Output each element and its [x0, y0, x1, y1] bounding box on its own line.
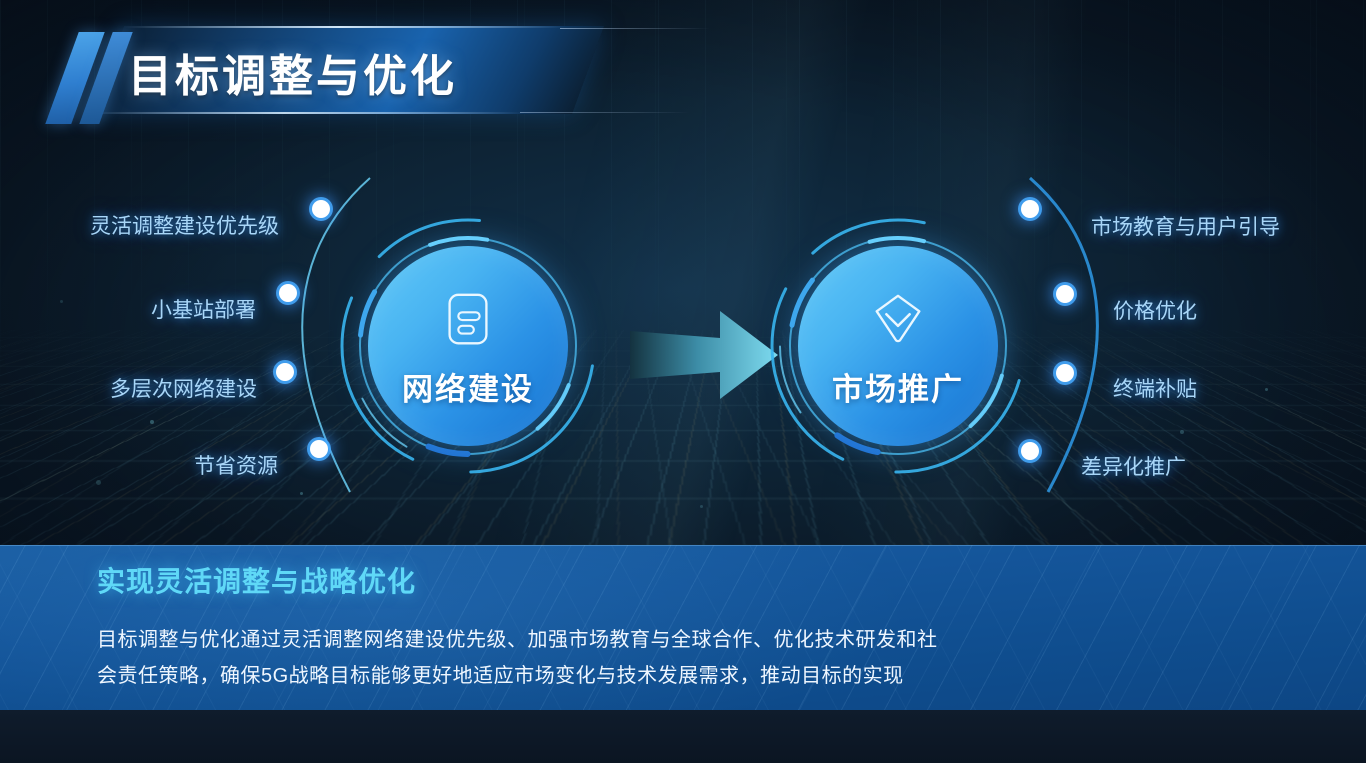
summary-heading: 实现灵活调整与战略优化 [97, 560, 416, 600]
right-dot-4[interactable] [1021, 442, 1039, 460]
document-card-icon [437, 290, 499, 352]
left-item-label-1: 灵活调整建设优先级 [90, 210, 279, 240]
right-node-disc: 市场推广 [798, 246, 998, 446]
summary-body: 目标调整与优化通过灵活调整网络建设优先级、加强市场教育与全球合作、优化技术研发和… [97, 622, 1097, 694]
diamond-chevron-down-icon [867, 290, 929, 352]
right-dot-2[interactable] [1056, 285, 1074, 303]
right-item-label-3: 终端补贴 [1113, 373, 1197, 403]
left-dot-2[interactable] [279, 284, 297, 302]
left-item-label-2: 小基站部署 [151, 294, 256, 324]
right-item-label-4: 差异化推广 [1081, 451, 1186, 481]
right-item-label-1: 市场教育与用户引导 [1091, 211, 1280, 241]
right-dot-3[interactable] [1056, 364, 1074, 382]
left-item-label-3: 多层次网络建设 [110, 373, 257, 403]
footer-strip [0, 710, 1366, 763]
page-title: 目标调整与优化 [128, 40, 457, 104]
right-node-label: 市场推广 [798, 364, 998, 409]
summary-body-line-1: 目标调整与优化通过灵活调整网络建设优先级、加强市场教育与全球合作、优化技术研发和… [97, 622, 1097, 658]
summary-body-line-2: 会责任策略，确保5G战略目标能够更好地适应市场变化与技术发展需求，推动目标的实现 [97, 658, 1097, 694]
banner-tail-line-top [560, 28, 710, 29]
right-dot-1[interactable] [1021, 200, 1039, 218]
title-banner-group: 目标调整与优化 [0, 26, 660, 122]
left-dot-1[interactable] [312, 200, 330, 218]
slide-canvas: 目标调整与优化 [0, 0, 1366, 763]
banner-tail-line-bottom [520, 112, 690, 113]
left-item-label-4: 节省资源 [194, 450, 278, 480]
right-item-label-2: 价格优化 [1113, 295, 1197, 325]
left-dot-3[interactable] [276, 363, 294, 381]
left-dot-4[interactable] [310, 440, 328, 458]
summary-panel-top-edge [0, 545, 1366, 546]
